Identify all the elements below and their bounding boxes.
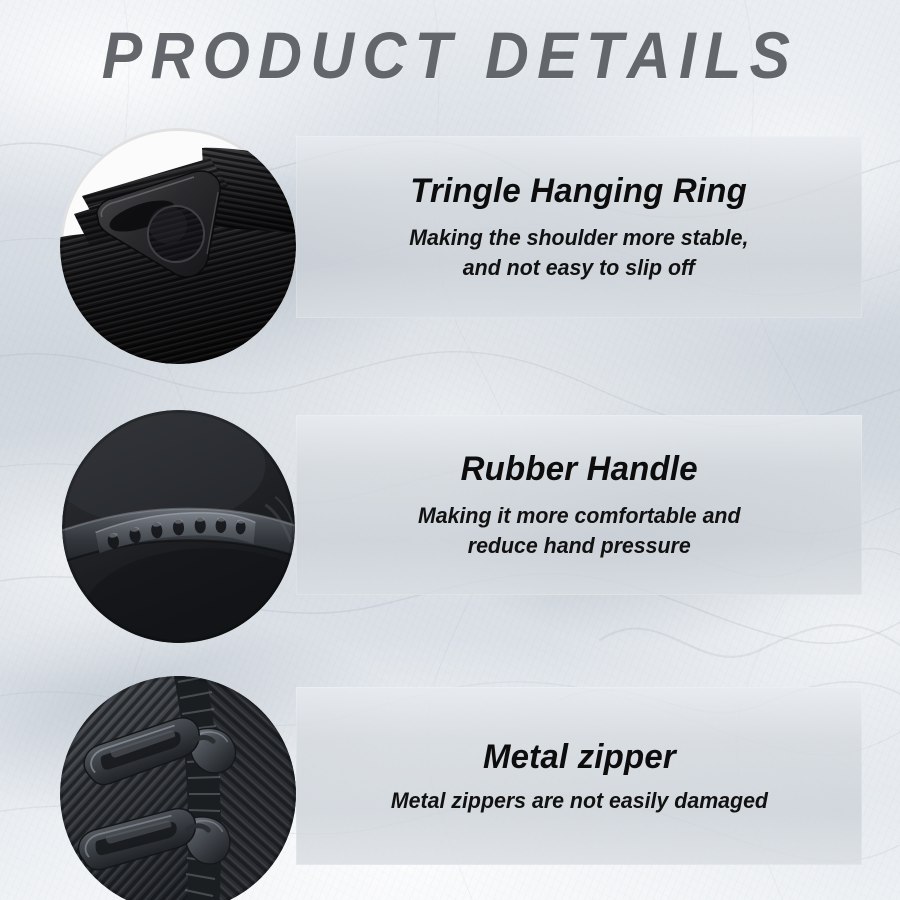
- feature-title: Rubber Handle: [460, 449, 697, 489]
- page-title: PRODUCT DETAILS: [36, 20, 864, 90]
- feature-description-line: Making it more comfortable and: [418, 501, 741, 531]
- feature-text-panel: Metal zipper Metal zippers are not easil…: [296, 687, 862, 865]
- metal-zipper-photo: [60, 676, 296, 900]
- feature-row: Tringle Hanging Ring Making the shoulder…: [0, 105, 900, 345]
- triangle-hanging-ring-photo: [60, 128, 296, 364]
- feature-title: Tringle Hanging Ring: [411, 171, 748, 211]
- feature-title: Metal zipper: [483, 737, 676, 777]
- feature-row: Metal zipper Metal zippers are not easil…: [0, 664, 900, 900]
- feature-text-panel: Rubber Handle Making it more comfortable…: [296, 415, 862, 595]
- feature-text-panel: Tringle Hanging Ring Making the shoulder…: [296, 136, 862, 318]
- feature-row: Rubber Handle Making it more comfortable…: [0, 392, 900, 632]
- feature-description: Metal zippers are not easily damaged: [390, 786, 767, 816]
- rubber-handle-photo: [62, 410, 295, 643]
- feature-description-line: Making the shoulder more stable,: [409, 223, 748, 253]
- feature-description: Making it more comfortable and reduce ha…: [418, 501, 741, 561]
- product-details-infographic: PRODUCT DETAILS: [0, 0, 900, 900]
- feature-description-line: and not easy to slip off: [409, 253, 748, 283]
- feature-description-line: Metal zippers are not easily damaged: [390, 786, 767, 816]
- feature-description: Making the shoulder more stable, and not…: [409, 223, 748, 283]
- feature-description-line: reduce hand pressure: [418, 531, 741, 561]
